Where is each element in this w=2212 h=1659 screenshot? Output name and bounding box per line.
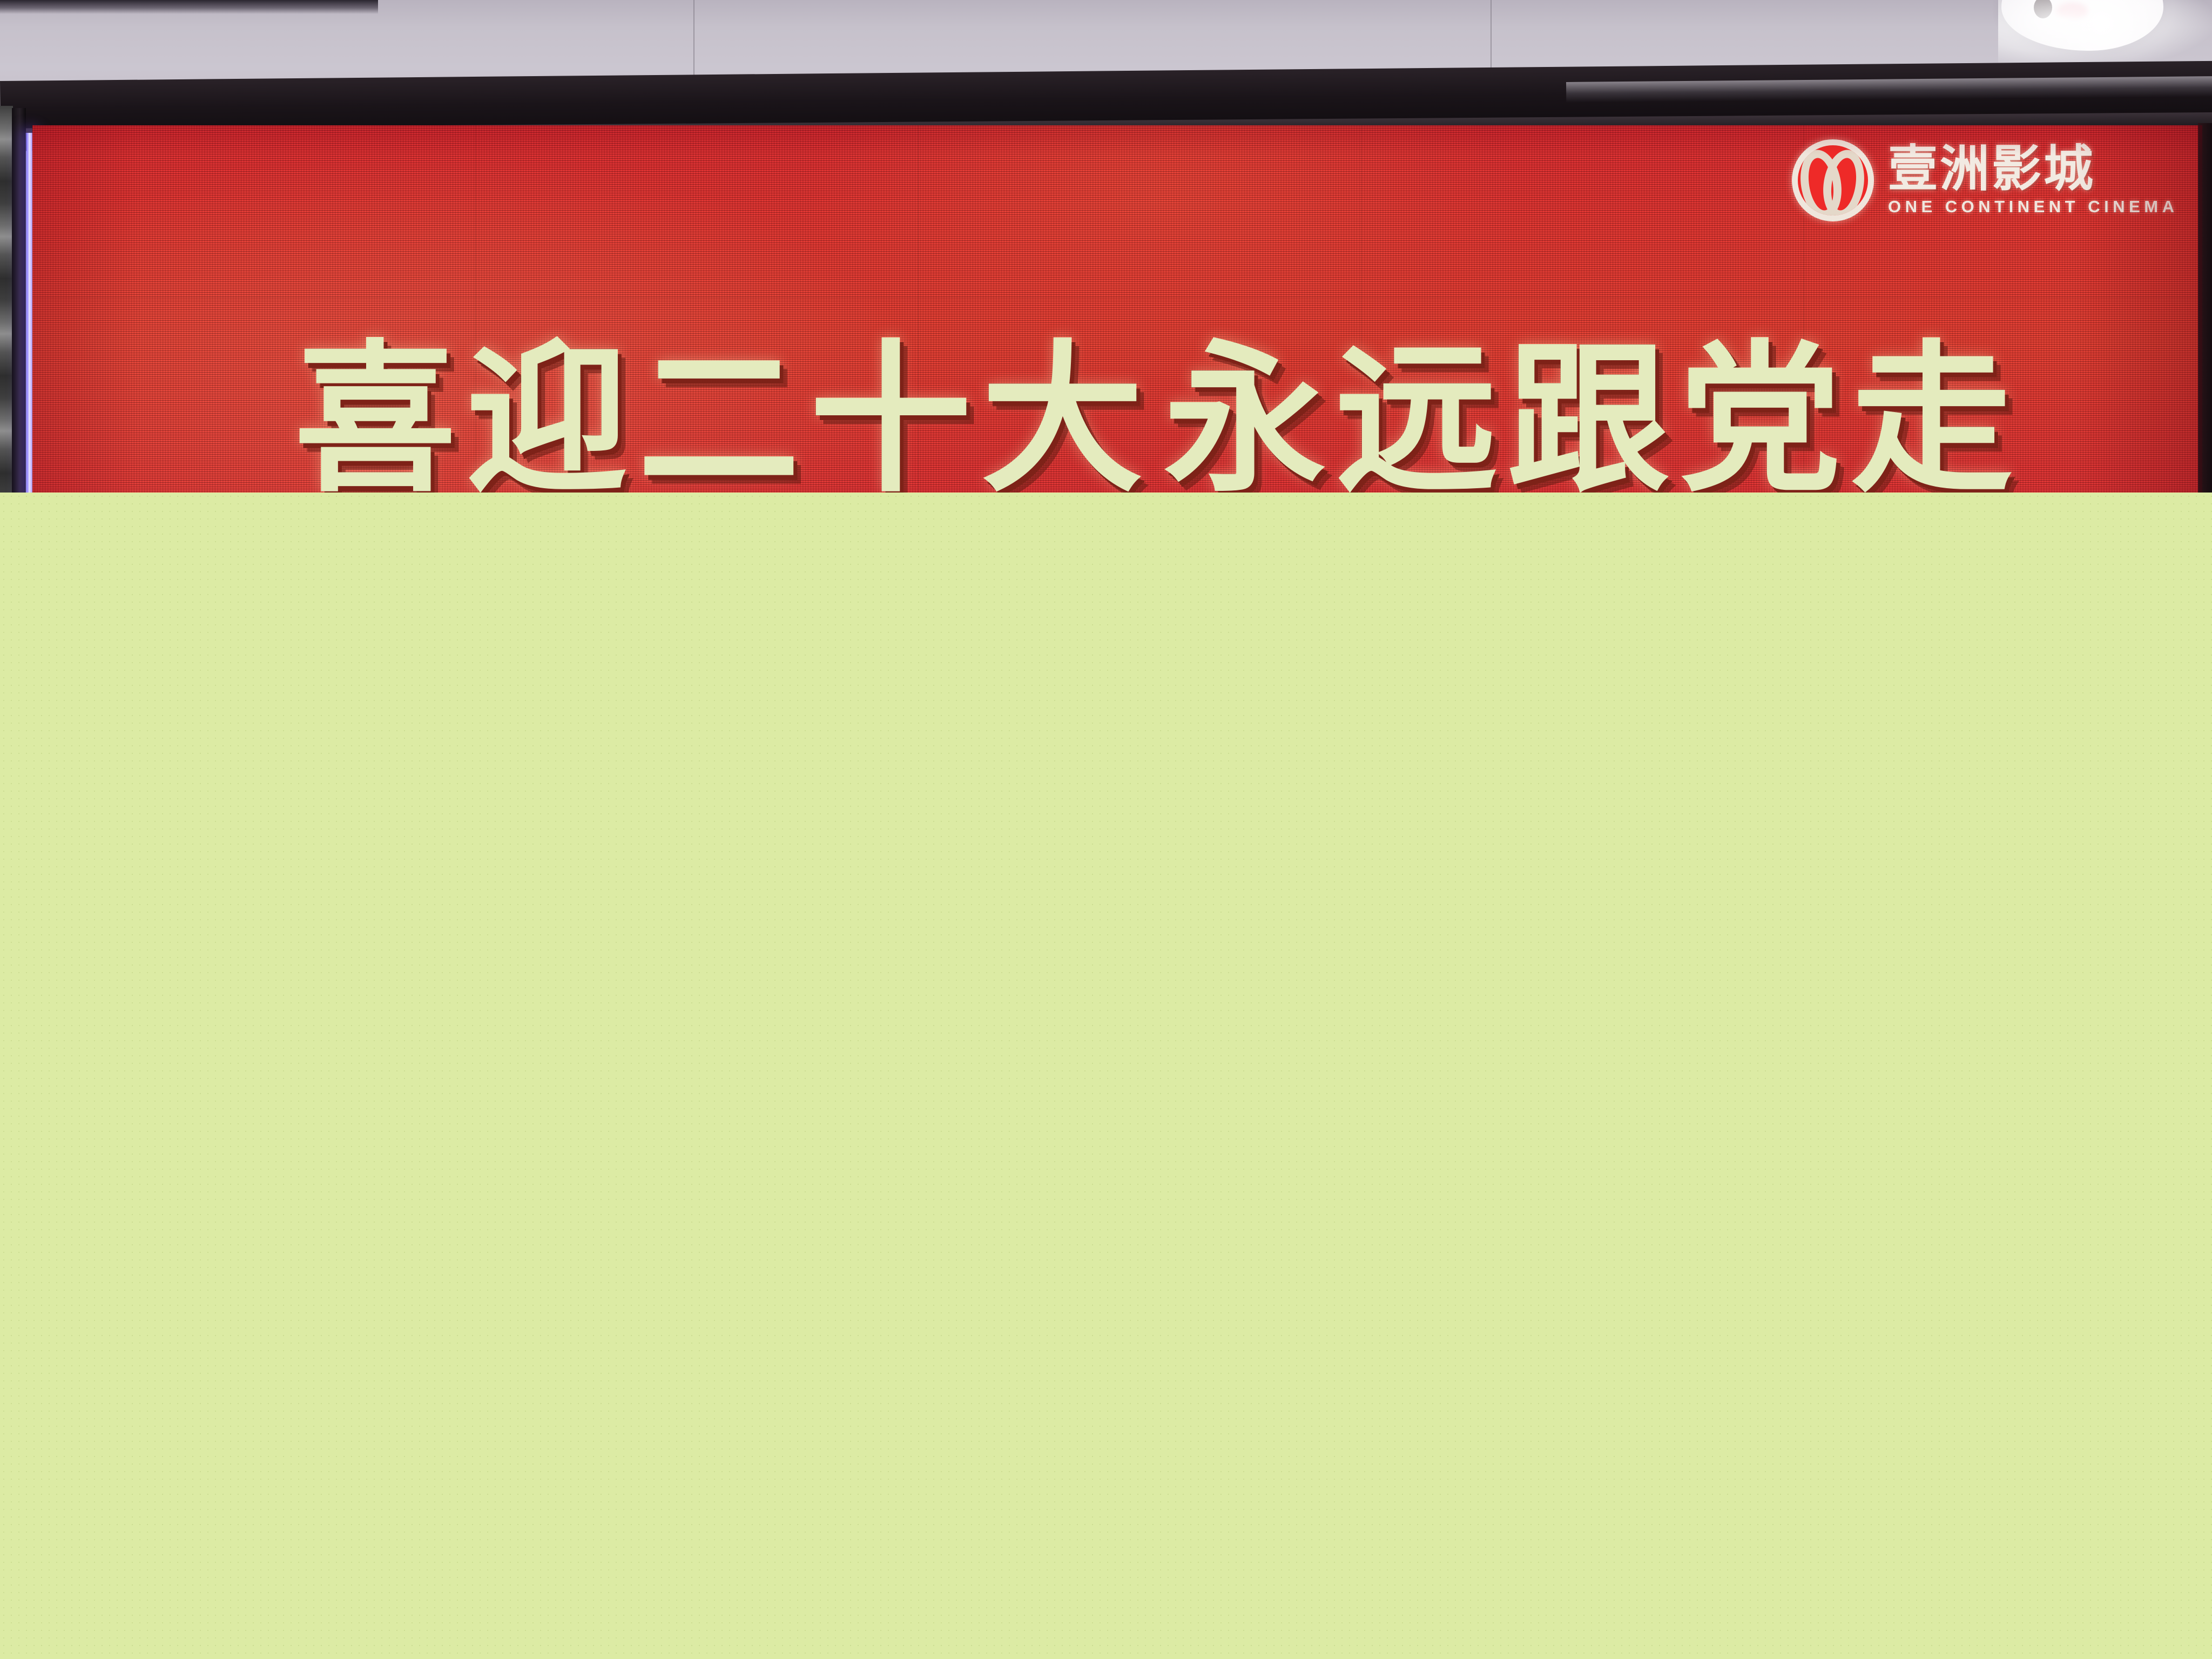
screenshot-stage: 喜迎二十大 永远跟党走 壹洲影城 ONE CONTINENT CINEMA — [0, 0, 2212, 1659]
led-slogan-part-2: 永远跟党走 — [1164, 339, 2022, 501]
led-slogan: 喜迎二十大 永远跟党走 — [294, 339, 2022, 501]
display-bezel-right — [2198, 123, 2212, 501]
plush-cheek — [2056, 3, 2088, 19]
metal-column-panel — [0, 106, 13, 505]
ceiling-shadow-corner — [0, 0, 378, 14]
led-slogan-part-1: 喜迎二十大 — [294, 339, 1153, 501]
cinema-logo-chinese: 壹洲影城 — [1888, 144, 2179, 194]
led-module-seam-h — [32, 297, 2202, 298]
cinema-logo-text: 壹洲影城 ONE CONTINENT CINEMA — [1888, 144, 2179, 217]
display-bezel-left — [12, 108, 26, 508]
crop-fill-area — [0, 493, 2212, 1659]
cinema-logo: 壹洲影城 ONE CONTINENT CINEMA — [1792, 139, 2179, 221]
cinema-logo-english: ONE CONTINENT CINEMA — [1888, 197, 2179, 217]
cinema-logo-mark-icon — [1792, 139, 1874, 221]
